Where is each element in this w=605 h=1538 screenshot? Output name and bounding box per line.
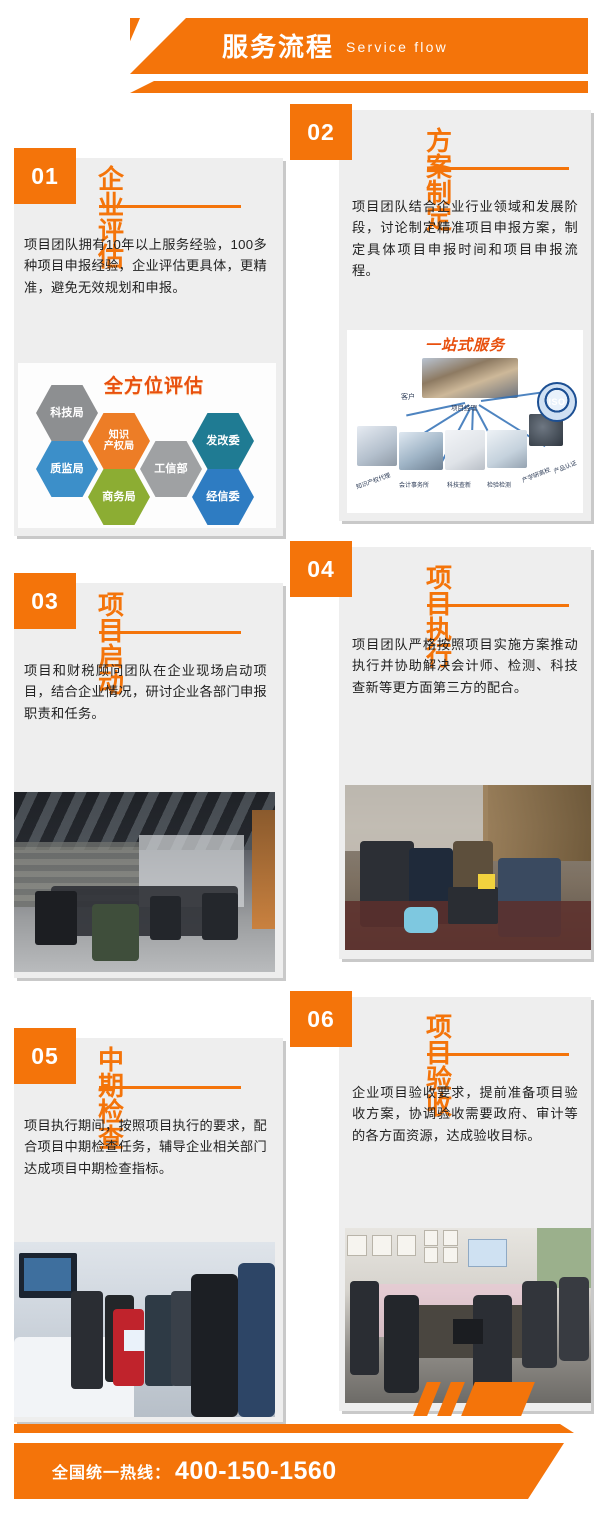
card-03-number: 03 [14, 573, 76, 629]
header-stripe [130, 81, 588, 93]
oss-title: 一站式服务 [347, 334, 583, 355]
photo-conference-room-meeting [14, 792, 275, 972]
footer-hotline-number: 400-150-1560 [175, 1457, 337, 1486]
card-02-title-rule [427, 167, 569, 170]
hex-node-zhijian: 质监局 [36, 441, 98, 497]
hex-node-label: 经信委 [206, 491, 240, 504]
arrow-marks-decoration [420, 1382, 550, 1416]
hex-node-gongxin: 工信部 [140, 441, 202, 497]
photo-team-working-laptops [345, 785, 591, 950]
card-05-title-rule [99, 1086, 241, 1089]
hex-node-label: 科技局 [50, 407, 84, 420]
oss-service-photo [445, 430, 485, 470]
oss-service-photo [399, 432, 443, 470]
card-01-number: 01 [14, 148, 76, 204]
card-04-number: 04 [290, 541, 352, 597]
card-02-number: 02 [290, 104, 352, 160]
page-title: 服务流程 Service flow [222, 22, 448, 72]
oss-client-label: 客户 [401, 392, 415, 402]
service-flow-infographic: 服务流程 Service flow 01 企业评估 项目团队拥有10年以上服务经… [0, 0, 605, 1538]
oss-service-label: 检验检测 [487, 480, 511, 489]
page-title-en: Service flow [346, 40, 448, 54]
hex-node-label: 工信部 [154, 463, 188, 476]
card-05-description: 项目执行期间，按照项目执行的要求，配合项目中期检查任务，辅导企业相关部门达成项目… [24, 1115, 267, 1179]
hex-node-zhishichanquan: 知识产权局 [88, 413, 150, 469]
hex-node-label: 商务局 [102, 491, 136, 504]
photo-lobby-site-visit [14, 1242, 275, 1417]
hex-node-keji: 科技局 [36, 385, 98, 441]
header: 服务流程 Service flow [0, 0, 605, 108]
page-title-cn: 服务流程 [222, 34, 334, 60]
oss-service-label: 科技查新 [447, 480, 471, 489]
hex-diagram-title: 全方位评估 [104, 371, 204, 398]
card-06-title-rule [427, 1053, 569, 1056]
hex-node-shangwu: 商务局 [88, 469, 150, 525]
footer-stripe [14, 1424, 574, 1433]
oss-service-label: 会计事务所 [399, 480, 429, 489]
hex-node-label: 质监局 [50, 463, 84, 476]
hex-node-label: 发改委 [206, 435, 240, 448]
footer-hotline-label: 全国统一热线： [52, 1459, 171, 1483]
oss-service-photo [487, 430, 527, 468]
card-02-description: 项目团队结合企业行业领域和发展阶段，讨论制定精准项目申报方案，制定具体项目申报时… [352, 196, 578, 282]
photo-acceptance-meeting [345, 1228, 591, 1403]
card-03-title-rule [99, 631, 241, 634]
footer-hotline: 全国统一热线： 400-150-1560 [52, 1443, 337, 1499]
hex-diagram: 全方位评估 科技局 质监局 知识产权局 商务局 工信部 发改委 经信委 [18, 363, 276, 528]
oss-service-label: 知识产权代理 [355, 470, 392, 491]
oss-service-photo [357, 426, 397, 466]
hex-node-fagai: 发改委 [192, 413, 254, 469]
oss-top-photo [422, 358, 518, 398]
one-stop-service-diagram: 一站式服务 客户 项目经理 ISO 知识产权代理 会计事务所 [347, 330, 583, 513]
card-05-number: 05 [14, 1028, 76, 1084]
card-01-description: 项目团队拥有10年以上服务经验，100多种项目申报经验，企业评估更具体，更精准，… [24, 234, 267, 298]
oss-service-label: 产品认证 [552, 458, 578, 475]
hex-node-label: 知识产权局 [104, 430, 135, 453]
card-04-description: 项目团队严格按照项目实施方案推动执行并协助解决会计师、检测、科技查新等更方面第三… [352, 634, 578, 698]
iso-seal-text: ISO [539, 397, 575, 407]
card-01-title-rule [99, 205, 241, 208]
hex-node-jingxin: 经信委 [192, 469, 254, 525]
card-06-description: 企业项目验收要求，提前准备项目验收方案，协调验收需要政府、审计等的各方面资源，达… [352, 1082, 578, 1146]
iso-seal-icon: ISO [537, 382, 577, 422]
card-04-title-rule [427, 604, 569, 607]
card-06-number: 06 [290, 991, 352, 1047]
oss-center-label: 项目经理 [451, 402, 477, 412]
card-03-description: 项目和财税顾问团队在企业现场启动项目，结合企业情况，研讨企业各部门申报职责和任务… [24, 660, 267, 724]
